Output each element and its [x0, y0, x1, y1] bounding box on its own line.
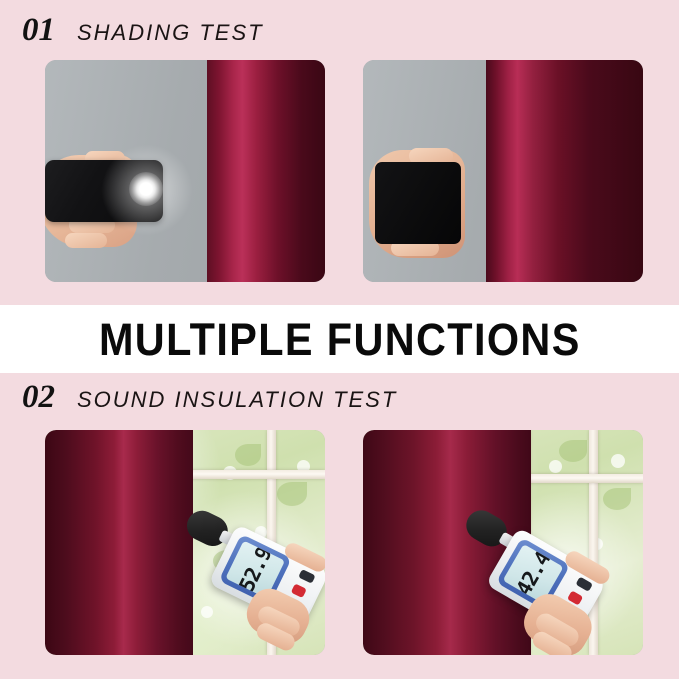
finger [65, 233, 107, 248]
product-infographic: 01 SHADING TEST MULTIPLE FUNCTIONS 02 SO [0, 0, 679, 679]
section-heading-01: 01 SHADING TEST [22, 14, 264, 47]
curtain-fabric [486, 60, 643, 282]
panel-shading-light-blocked [363, 60, 643, 282]
foliage [559, 440, 587, 462]
section-number-02: 02 [22, 381, 55, 414]
panel-sound-window-open: 52.9 [45, 430, 325, 655]
blossom [549, 460, 562, 473]
banner: MULTIPLE FUNCTIONS [0, 305, 679, 373]
foliage [235, 444, 261, 466]
section-label-01: SHADING TEST [77, 22, 264, 44]
panel-shading-light-on [45, 60, 325, 282]
smartphone [375, 162, 461, 244]
window-mullion [179, 470, 325, 479]
foliage [603, 488, 631, 510]
curtain-fabric [45, 430, 193, 655]
window-mullion [523, 474, 643, 483]
curtain-fabric [207, 60, 325, 282]
banner-title: MULTIPLE FUNCTIONS [99, 317, 581, 362]
section-number-01: 01 [22, 14, 55, 47]
blossom [201, 606, 213, 618]
blossom [611, 454, 625, 468]
foliage [277, 482, 307, 506]
section-heading-02: 02 SOUND INSULATION TEST [22, 381, 397, 414]
flashlight-beam-icon [129, 172, 163, 206]
section-label-02: SOUND INSULATION TEST [77, 389, 397, 411]
meter-reading-value: 42.4 [511, 548, 555, 600]
panel-sound-curtain-closed: 42.4 [363, 430, 643, 655]
